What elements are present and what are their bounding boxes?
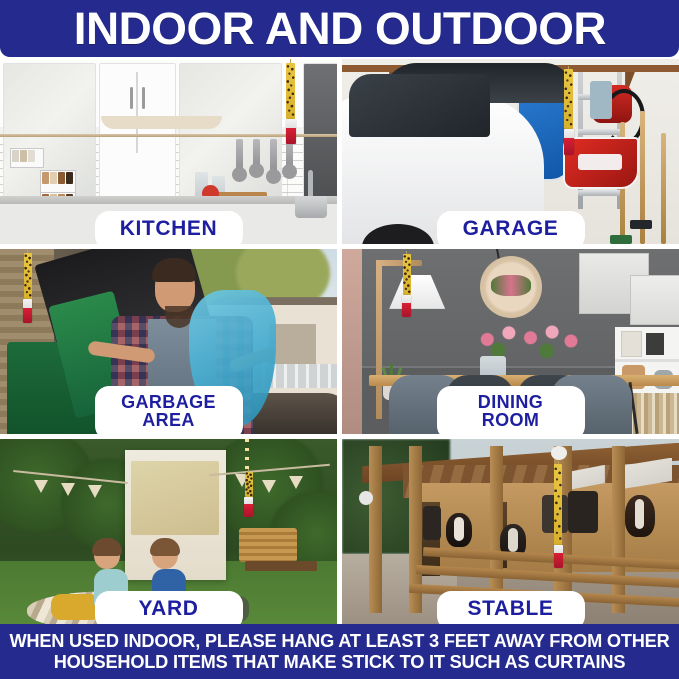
yard-picnic-basket — [239, 528, 297, 562]
dining-lamp-arm — [376, 260, 422, 266]
panel-stable: STABLE — [342, 439, 679, 624]
panel-label-text: KITCHEN — [120, 218, 218, 240]
kitchen-utensil-skimmer — [270, 139, 277, 175]
panel-label-text-line2: AREA — [142, 411, 195, 430]
fly-trap-garage — [564, 66, 573, 155]
panel-label-text: GARAGE — [463, 218, 559, 240]
garbage-man-hair — [152, 258, 196, 282]
stable-tack-3 — [423, 506, 441, 540]
garage-tool-head-dark — [630, 220, 652, 229]
panel-label-text-line1: DINING — [478, 393, 543, 412]
panel-label-text-line2: ROOM — [482, 411, 540, 430]
yard-flag-1 — [34, 480, 48, 493]
yard-wooden-bench — [245, 561, 317, 571]
fly-trap-yard — [245, 469, 253, 517]
yard-flag-3 — [88, 485, 102, 498]
page-title: INDOOR AND OUTDOOR — [73, 6, 605, 51]
fly-trap-stable — [554, 461, 562, 568]
header-banner: INDOOR AND OUTDOOR — [0, 0, 679, 57]
garage-tool-head-green — [610, 235, 632, 244]
yard-flag-4 — [289, 476, 303, 489]
kitchen-spice-rack-top — [40, 170, 76, 194]
panel-kitchen: KITCHEN — [0, 59, 337, 244]
garage-tool-shovel — [661, 133, 666, 244]
panel-dining-room: DINING ROOM — [342, 249, 679, 434]
panel-label-garbage-area: GARBAGE AREA — [95, 386, 243, 434]
stable-horse-3 — [625, 495, 655, 537]
stable-post-1 — [369, 446, 382, 613]
stable-light-1 — [359, 491, 373, 505]
panel-grid: KITCHEN — [0, 57, 679, 624]
panel-label-text-line1: GARBAGE — [121, 393, 216, 412]
panel-label-garage: GARAGE — [437, 211, 585, 244]
kitchen-utensil-whisk — [253, 139, 260, 169]
stable-horse-1 — [446, 513, 472, 547]
fly-trap-dining-room — [403, 251, 411, 318]
infographic-root: INDOOR AND OUTDOOR — [0, 0, 679, 679]
stable-post-5 — [612, 446, 625, 613]
panel-garage: GARAGE — [342, 59, 679, 244]
yard-projected-image — [131, 461, 219, 535]
fly-trap-kitchen — [286, 59, 295, 144]
panel-label-text: STABLE — [467, 598, 553, 620]
kitchen-utensil-ladle — [236, 139, 243, 173]
stable-tack-1 — [568, 491, 598, 533]
panel-label-yard: YARD — [95, 591, 243, 624]
panel-label-dining-room: DINING ROOM — [437, 386, 585, 434]
yard-flag-5 — [262, 480, 276, 493]
kitchen-countertop — [0, 196, 337, 204]
panel-label-kitchen: KITCHEN — [95, 211, 243, 244]
dining-wall-art-small — [630, 275, 679, 325]
kitchen-steel-pot — [295, 196, 327, 218]
dining-curtain — [342, 249, 362, 434]
fly-trap-garbage-area — [24, 249, 32, 323]
kitchen-hood — [101, 116, 222, 129]
panel-yard: YARD — [0, 439, 337, 624]
garage-car-window — [349, 74, 491, 137]
footer-line-1: WHEN USED INDOOR, PLEASE HANG AT LEAST 3… — [9, 631, 669, 651]
footer-line-2: HOUSEHOLD ITEMS THAT MAKE STICK TO IT SU… — [54, 652, 626, 672]
panel-label-text: YARD — [139, 598, 199, 620]
kitchen-small-shelf — [10, 148, 44, 168]
footer-banner: WHEN USED INDOOR, PLEASE HANG AT LEAST 3… — [0, 624, 679, 679]
panel-garbage-area: GARBAGE AREA — [0, 249, 337, 434]
yard-pillow-yellow — [51, 594, 101, 620]
panel-label-stable: STABLE — [437, 591, 585, 624]
yard-flag-2 — [61, 483, 75, 496]
garage-cloth — [590, 81, 612, 119]
